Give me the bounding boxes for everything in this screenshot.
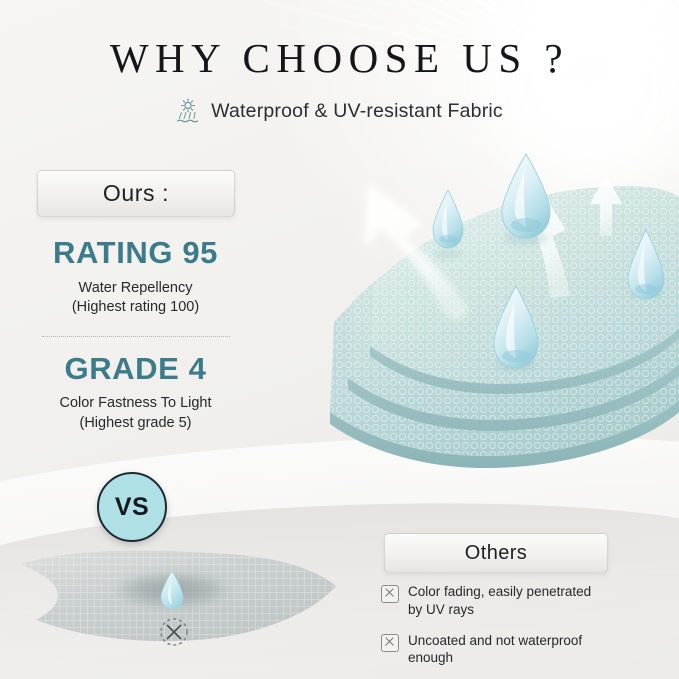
others-drawbacks-list: Color fading, easily penetrated by UV ra… xyxy=(381,583,663,679)
subtitle-row: Waterproof & UV-resistant Fabric xyxy=(0,98,679,124)
metric-rating: RATING 95 Water Repellency (Highest rati… xyxy=(18,237,253,318)
metric-divider xyxy=(42,336,230,337)
metric-caption-line2: (Highest rating 100) xyxy=(18,298,253,318)
metric-caption-line1: Color Fastness To Light xyxy=(18,394,253,414)
dashed-circle-x-icon xyxy=(161,619,187,645)
water-droplet xyxy=(494,286,538,368)
repel-arrow-right xyxy=(590,174,622,236)
fabric-layer-top xyxy=(370,186,679,394)
x-checkbox-icon xyxy=(381,585,399,603)
others-item-line1: Color fading, easily penetrated xyxy=(408,584,591,599)
vs-badge: VS xyxy=(97,472,167,542)
metric-value: RATING 95 xyxy=(18,237,253,270)
metric-grade: GRADE 4 Color Fastness To Light (Highest… xyxy=(18,353,253,434)
others-item-text: Color fading, easily penetrated by UV ra… xyxy=(408,583,591,619)
metric-value: GRADE 4 xyxy=(18,353,253,386)
repel-arrow-middle xyxy=(518,192,570,298)
ours-label-pill: Ours : xyxy=(37,170,235,217)
gray-fabric-sheet xyxy=(20,551,336,641)
others-item-line2: enough xyxy=(408,650,453,665)
droplet-shadow xyxy=(504,231,548,245)
metric-caption: Water Repellency (Highest rating 100) xyxy=(18,279,253,318)
others-label-pill: Others xyxy=(384,533,608,573)
water-droplet xyxy=(433,190,463,248)
droplet-shadow xyxy=(496,357,536,371)
list-item: Uncoated and not waterproof enough xyxy=(381,632,663,668)
droplet-shadow xyxy=(434,249,462,259)
absorbing-water-droplet xyxy=(161,571,183,609)
metric-caption-line1: Water Repellency xyxy=(18,279,253,299)
others-item-text: Uncoated and not waterproof enough xyxy=(408,632,582,668)
non-waterproof-fabric-illustration xyxy=(14,540,354,670)
fabric-layer-bottom xyxy=(330,220,679,468)
repel-arrow-large-left xyxy=(364,184,469,320)
waterproof-fabric-illustration xyxy=(326,126,679,478)
water-droplet xyxy=(502,154,550,238)
why-choose-us-infographic: WHY CHOOSE US ? Waterproof & UV- xyxy=(0,0,679,679)
list-item: Color fading, easily penetrated by UV ra… xyxy=(381,583,663,619)
others-item-line2: by UV rays xyxy=(408,602,474,617)
page-subtitle: Waterproof & UV-resistant Fabric xyxy=(211,100,503,123)
metric-caption-line2: (Highest grade 5) xyxy=(18,414,253,434)
wet-stain xyxy=(110,571,234,609)
fabric-layer-middle xyxy=(348,204,679,431)
x-checkbox-icon xyxy=(381,634,399,652)
sun-over-water-icon xyxy=(176,98,200,124)
water-droplet xyxy=(628,230,664,299)
metric-caption: Color Fastness To Light (Highest grade 5… xyxy=(18,394,253,433)
others-item-line1: Uncoated and not waterproof xyxy=(408,633,582,648)
page-title: WHY CHOOSE US ? xyxy=(0,34,679,82)
ours-metrics: RATING 95 Water Repellency (Highest rati… xyxy=(18,237,253,433)
droplet-shadow xyxy=(629,286,663,298)
